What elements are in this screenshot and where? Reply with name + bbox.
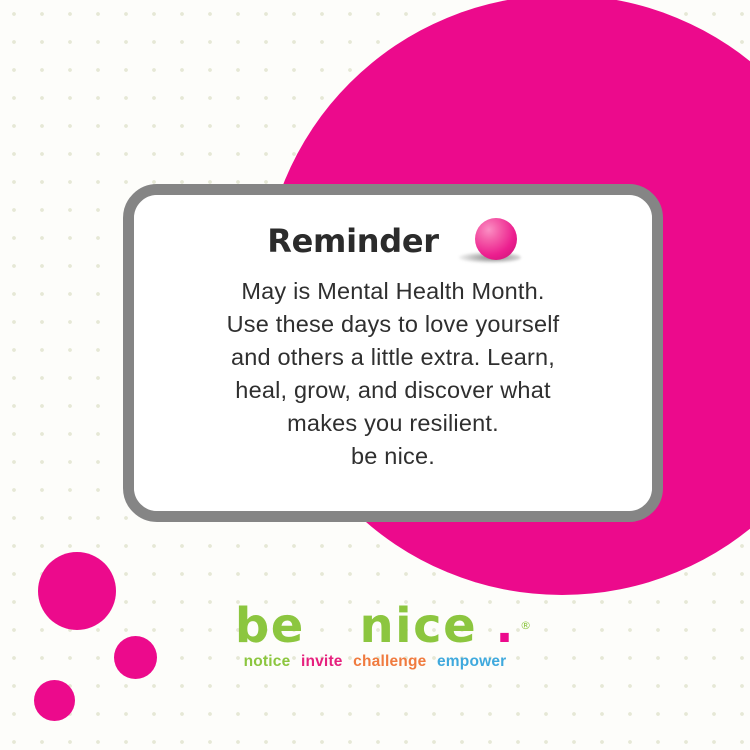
poster-canvas: Reminder May is Mental Health Month. Use…	[0, 0, 750, 750]
reminder-message: May is Mental Health Month. Use these da…	[156, 275, 630, 473]
message-line: makes you resilient.	[156, 407, 630, 440]
message-line: heal, grow, and discover what	[156, 374, 630, 407]
logo-period-dot: .	[495, 598, 515, 654]
magenta-circle-small	[34, 680, 75, 721]
page-title: Reminder	[267, 225, 438, 257]
logo-word-be: be	[235, 598, 305, 654]
tagline-word-invite: invite	[301, 653, 343, 670]
message-line: be nice.	[156, 440, 630, 473]
pink-sphere-body	[475, 218, 517, 260]
logo-tagline: notice invite challenge empower	[0, 653, 750, 671]
logo-wordmark: be nice . ®	[235, 600, 515, 652]
message-line: Use these days to love yourself	[156, 308, 630, 341]
tagline-word-empower: empower	[437, 653, 506, 670]
tagline-word-notice: notice	[244, 653, 291, 670]
message-line: and others a little extra. Learn,	[156, 341, 630, 374]
registered-trademark-icon: ®	[520, 600, 531, 652]
reminder-card-header: Reminder	[156, 213, 630, 269]
be-nice-logo: be nice . ® notice invite challenge empo…	[0, 600, 750, 671]
tagline-word-challenge: challenge	[353, 653, 426, 670]
reminder-card-inner: Reminder May is Mental Health Month. Use…	[134, 195, 652, 511]
pink-sphere-icon	[473, 216, 519, 266]
logo-word-nice: nice	[359, 598, 477, 654]
message-line: May is Mental Health Month.	[156, 275, 630, 308]
reminder-card: Reminder May is Mental Health Month. Use…	[123, 184, 663, 522]
